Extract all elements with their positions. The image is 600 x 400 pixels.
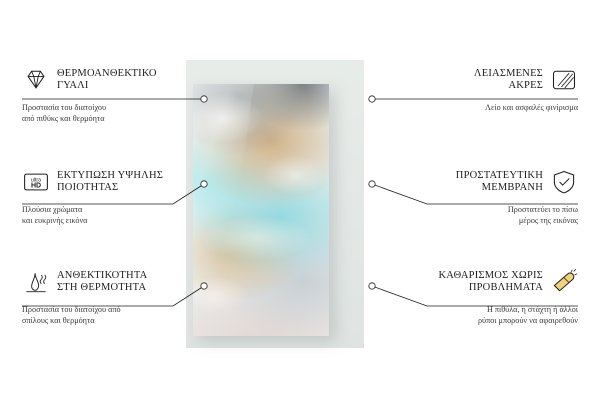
feature-title: ΛΕΙΑΣΜΕΝΕΣ ΑΚΡΕΣ xyxy=(474,68,543,92)
feature-protective-membrane: ΠΡΟΣΤΑΤΕΥΤΙΚΗ ΜΕΜΒΡΑΝΗ Προστατεύει το πί… xyxy=(404,168,578,226)
feature-smooth-edges: ΛΕΙΑΣΜΕΝΕΣ ΑΚΡΕΣ Λείο και ασφαλές φινίρι… xyxy=(404,66,578,114)
feature-title: ΚΑΘΑΡΙΣΜΟΣ ΧΩΡΙΣ ΠΡΟΒΛΗΜΑΤΑ xyxy=(438,270,543,294)
feature-heat-durability: ΑΝΘΕΚΤΙΚΟΤΗΤΑ ΣΤΗ ΘΕΡΜΟΤΗΤΑ Προστασία το… xyxy=(22,268,196,326)
feature-easy-cleaning: ΚΑΘΑΡΙΣΜΟΣ ΧΩΡΙΣ ΠΡΟΒΛΗΜΑΤΑ Η πιθύλα, η … xyxy=(404,268,578,326)
smooth-edges-icon xyxy=(550,66,578,94)
glass-splashback-image xyxy=(193,84,329,336)
water-drop-heat-icon xyxy=(22,268,50,296)
shield-icon xyxy=(550,168,578,196)
feature-header: ΑΝΘΕΚΤΙΚΟΤΗΤΑ ΣΤΗ ΘΕΡΜΟΤΗΤΑ xyxy=(22,268,196,296)
feature-description: Προστατεύει το πίσω μέρος της εικόνας xyxy=(404,205,578,226)
feature-header: ultra HD ΕΚΤΥΠΩΣΗ ΥΨΗΛΗΣ ΠΟΙΟΤΗΤΑΣ xyxy=(22,168,196,196)
feature-title: ΑΝΘΕΚΤΙΚΟΤΗΤΑ ΣΤΗ ΘΕΡΜΟΤΗΤΑ xyxy=(57,270,147,294)
feature-description: Η πιθύλα, η στάχτη ή άλλοι ρύποι μπορούν… xyxy=(404,305,578,326)
feature-title: ΘΕΡΜΟΑΝΘΕΚΤΙΚΟ ΓΥΑΛΙ xyxy=(57,68,157,92)
feature-description: Λείο και ασφαλές φινίρισμα xyxy=(404,103,578,114)
infographic-stage: ΘΕΡΜΟΑΝΘΕΚΤΙΚΟ ΓΥΑΛΙ Προστασία του διατο… xyxy=(0,0,600,400)
sponge-cleaning-icon xyxy=(550,268,578,296)
feature-description: Προστασία του διατοίχου από σπίλους και … xyxy=(22,305,196,326)
ultra-hd-icon: ultra HD xyxy=(22,168,50,196)
diamond-icon xyxy=(22,66,50,94)
feature-high-quality-print: ultra HD ΕΚΤΥΠΩΣΗ ΥΨΗΛΗΣ ΠΟΙΟΤΗΤΑΣ Πλούσ… xyxy=(22,168,196,226)
feature-heat-resistant-glass: ΘΕΡΜΟΑΝΘΕΚΤΙΚΟ ΓΥΑΛΙ Προστασία του διατο… xyxy=(22,66,196,124)
feature-header: ΘΕΡΜΟΑΝΘΕΚΤΙΚΟ ΓΥΑΛΙ xyxy=(22,66,196,94)
feature-header: ΛΕΙΑΣΜΕΝΕΣ ΑΚΡΕΣ xyxy=(404,66,578,94)
svg-text:HD: HD xyxy=(31,183,41,190)
feature-title: ΕΚΤΥΠΩΣΗ ΥΨΗΛΗΣ ΠΟΙΟΤΗΤΑΣ xyxy=(57,170,163,194)
feature-title: ΠΡΟΣΤΑΤΕΥΤΙΚΗ ΜΕΜΒΡΑΝΗ xyxy=(456,170,543,194)
feature-description: Προστασία του διατοίχου από πιθύκς και θ… xyxy=(22,103,196,124)
feature-description: Πλούσια χρώματα και ευκρινής εικόνα xyxy=(22,205,196,226)
feature-header: ΠΡΟΣΤΑΤΕΥΤΙΚΗ ΜΕΜΒΡΑΝΗ xyxy=(404,168,578,196)
feature-header: ΚΑΘΑΡΙΣΜΟΣ ΧΩΡΙΣ ΠΡΟΒΛΗΜΑΤΑ xyxy=(404,268,578,296)
